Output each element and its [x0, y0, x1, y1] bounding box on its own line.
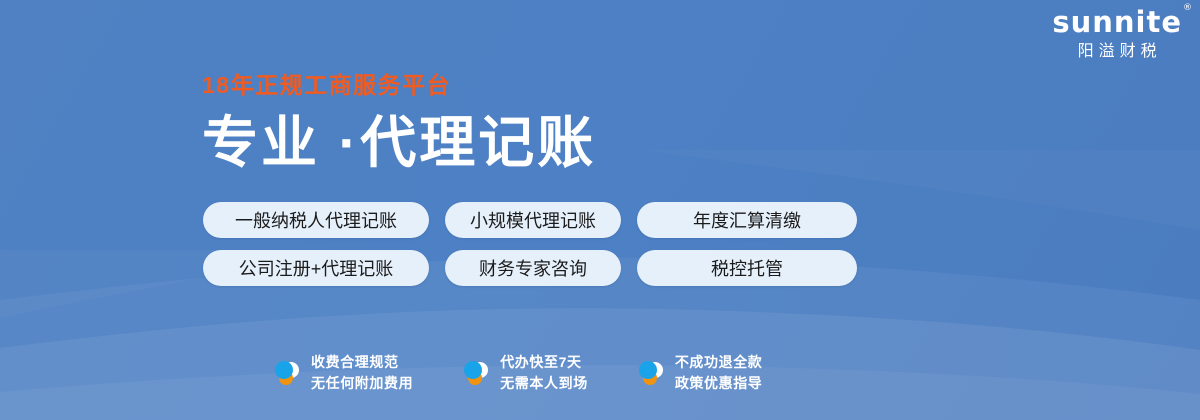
service-pill-small-scale[interactable]: 小规模代理记账	[445, 202, 621, 238]
feature-line-1: 不成功退全款	[675, 352, 763, 373]
service-pill-company-registration[interactable]: 公司注册+代理记账	[203, 250, 429, 286]
blue-orange-circle-icon	[461, 358, 491, 388]
company-logo: sunnite ® 阳溢财税	[1052, 8, 1182, 60]
feature-item-guarantee: 不成功退全款 政策优惠指导	[636, 352, 763, 394]
feature-item-speed: 代办快至7天 无需本人到场	[461, 352, 588, 394]
service-pill-group: 一般纳税人代理记账 小规模代理记账 年度汇算清缴 公司注册+代理记账 财务专家咨…	[203, 202, 857, 298]
feature-text: 收费合理规范 无任何附加费用	[311, 352, 413, 394]
feature-item-pricing: 收费合理规范 无任何附加费用	[272, 352, 413, 394]
feature-line-1: 收费合理规范	[311, 352, 413, 373]
logo-chinese-name: 阳溢财税	[1052, 44, 1182, 60]
service-pill-row: 公司注册+代理记账 财务专家咨询 税控托管	[203, 250, 857, 286]
logo-wordmark-text: sunnite	[1052, 5, 1182, 39]
feature-strip: 收费合理规范 无任何附加费用 代办快至7天 无需本人到场	[272, 352, 762, 394]
feature-line-2: 无需本人到场	[500, 373, 588, 394]
blue-orange-circle-icon	[272, 358, 302, 388]
service-pill-general-taxpayer[interactable]: 一般纳税人代理记账	[203, 202, 429, 238]
feature-line-1: 代办快至7天	[500, 352, 588, 373]
feature-line-2: 无任何附加费用	[311, 373, 413, 394]
registered-trademark-icon: ®	[1183, 4, 1193, 13]
hero-copy: 18年正规工商服务平台 专业 ·代理记账	[202, 74, 596, 173]
feature-text: 不成功退全款 政策优惠指导	[675, 352, 763, 394]
logo-wordmark: sunnite ®	[1052, 8, 1182, 37]
service-pill-annual-settlement[interactable]: 年度汇算清缴	[637, 202, 857, 238]
service-pill-row: 一般纳税人代理记账 小规模代理记账 年度汇算清缴	[203, 202, 857, 238]
blue-orange-circle-icon	[636, 358, 666, 388]
promo-banner: sunnite ® 阳溢财税 18年正规工商服务平台 专业 ·代理记账 一般纳税…	[0, 0, 1200, 420]
hero-headline: 专业 ·代理记账	[202, 113, 596, 173]
service-pill-tax-control-hosting[interactable]: 税控托管	[637, 250, 857, 286]
feature-text: 代办快至7天 无需本人到场	[500, 352, 588, 394]
hero-eyebrow: 18年正规工商服务平台	[202, 74, 596, 97]
feature-line-2: 政策优惠指导	[675, 373, 763, 394]
service-pill-finance-consulting[interactable]: 财务专家咨询	[445, 250, 621, 286]
